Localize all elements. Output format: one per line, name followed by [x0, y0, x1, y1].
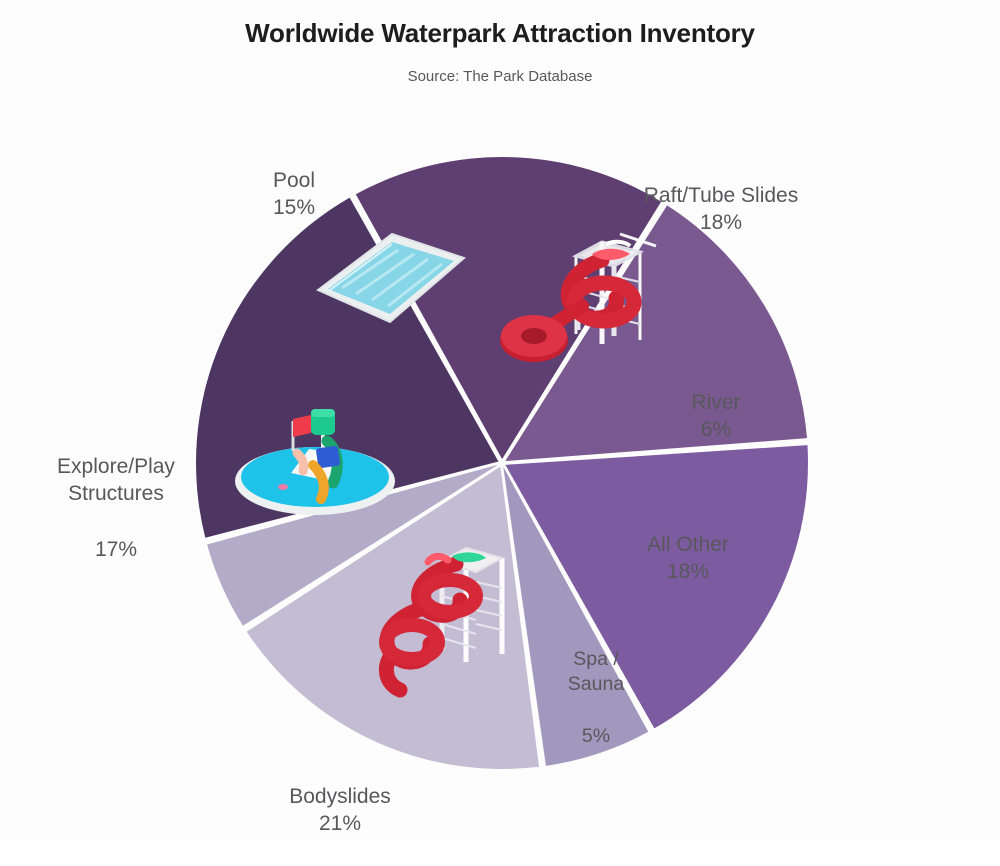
- pie-svg: [0, 0, 1000, 840]
- pie-chart-figure: Worldwide Waterpark Attraction Inventory…: [0, 0, 1000, 840]
